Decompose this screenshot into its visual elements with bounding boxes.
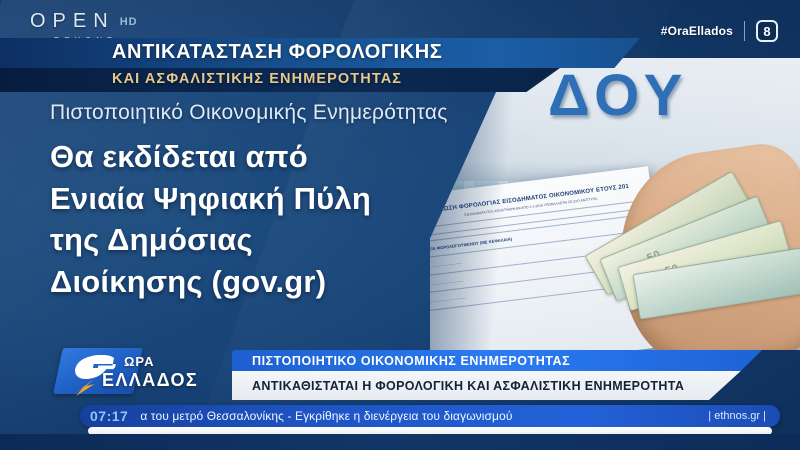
lightning-bolt-icon — [72, 378, 98, 396]
headline-band-primary-text: ΑΝΤΙΚΑΤΑΣΤΑΣΗ ΦΟΡΟΛΟΓΙΚΗΣ — [112, 41, 442, 64]
headline-band-secondary: ΚΑΙ ΑΣΦΑΛΙΣΤΙΚΗΣ ΕΝΗΜΕΡΟΤΗΤΑΣ — [0, 68, 560, 92]
program-hashtag: #OraEllados — [661, 24, 733, 38]
broadcast-screen: ΔΟΥ ΔΗΛΩΣΗ ΦΟΡΟΛΟΓΙΑΣ ΕΙΣΟΔΗΜΑΤΟΣ ΟΙΚΟΝΟ… — [0, 0, 800, 450]
ticker-source: | ethnos.gr | — [708, 410, 766, 422]
lower-third-subtitle-band: ΑΝΤΙΚΑΘΙΣΤΑΤΑΙ Η ΦΟΡΟΛΟΓΙΚΗ ΚΑΙ ΑΣΦΑΛΙΣΤ… — [232, 371, 762, 400]
lower-third-title: ΠΙΣΤΟΠΟΙΗΤΙΚΟ ΟΙΚΟΝΟΜΙΚΗΣ ΕΝΗΜΕΡΟΤΗΤΑΣ — [252, 354, 570, 368]
channel-number-badge: 8 — [756, 20, 778, 42]
divider — [744, 21, 745, 41]
headline-line: Διοίκησης (gov.gr) — [50, 261, 470, 303]
ticker-headline: α του μετρό Θεσσαλονίκης - Εγκρίθηκε η δ… — [140, 409, 512, 423]
headline-line: Ενιαία Ψηφιακή Πύλη — [50, 178, 470, 220]
clock-time: 07:17 — [90, 408, 128, 424]
news-photo: ΔΟΥ ΔΗΛΩΣΗ ΦΟΡΟΛΟΓΙΑΣ ΕΙΣΟΔΗΜΑΤΟΣ ΟΙΚΟΝΟ… — [430, 58, 800, 350]
headline-line: της Δημόσιας — [50, 219, 470, 261]
lower-third-title-band: ΠΙΣΤΟΠΟΙΗΤΙΚΟ ΟΙΚΟΝΟΜΙΚΗΣ ΕΝΗΜΕΡΟΤΗΤΑΣ — [232, 350, 762, 371]
hd-badge: HD — [120, 16, 138, 28]
program-logo-ora: ΩΡΑ — [124, 354, 155, 369]
channel-logo-word: OPEN — [30, 10, 115, 32]
program-logo: ΩΡΑ ΕΛΛΑΔΟΣ — [58, 348, 208, 400]
channel-logo-row: OPENHD — [30, 10, 180, 33]
top-right-overlay: #OraEllados 8 — [661, 20, 778, 42]
program-logo-ellados: ΕΛΛΑΔΟΣ — [102, 370, 198, 391]
headline-band-primary: ΑΝΤΙΚΑΤΑΣΤΑΣΗ ΦΟΡΟΛΟΓΙΚΗΣ — [0, 38, 640, 68]
main-headline-block: Θα εκδίδεται από Ενιαία Ψηφιακή Πύλη της… — [50, 136, 470, 302]
bottom-fill-strip — [0, 434, 800, 450]
news-ticker[interactable]: 07:17 α του μετρό Θεσσαλονίκης - Εγκρίθη… — [80, 405, 780, 427]
news-ticker-row: 07:17 α του μετρό Θεσσαλονίκης - Εγκρίθη… — [80, 405, 780, 427]
photo-edge-vignette — [430, 58, 800, 350]
lower-third-subtitle: ΑΝΤΙΚΑΘΙΣΤΑΤΑΙ Η ΦΟΡΟΛΟΓΙΚΗ ΚΑΙ ΑΣΦΑΛΙΣΤ… — [252, 379, 684, 393]
kicker-text: Πιστοποιητικό Οικονομικής Ενημερότητας — [50, 101, 448, 125]
headline-band-secondary-text: ΚΑΙ ΑΣΦΑΛΙΣΤΙΚΗΣ ΕΝΗΜΕΡΟΤΗΤΑΣ — [112, 71, 402, 87]
headline-line: Θα εκδίδεται από — [50, 136, 470, 178]
